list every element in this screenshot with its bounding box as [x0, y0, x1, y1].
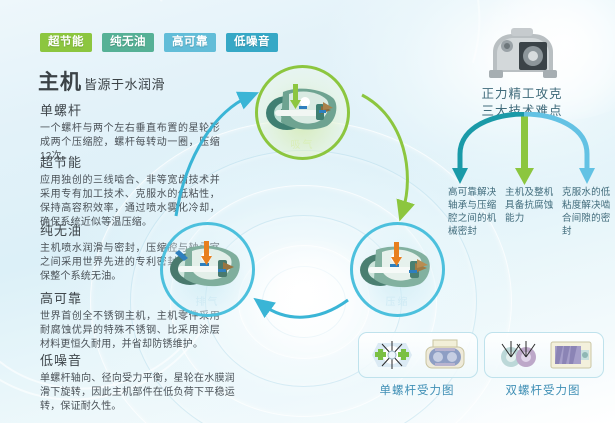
ripple-ring [262, 266, 346, 338]
compressor-photo [487, 26, 559, 82]
cycle-node-suction[interactable]: 吸气 [255, 65, 350, 160]
tag-oil-free[interactable]: 纯无油 [102, 33, 154, 52]
single-screw-cutaway-icon [423, 339, 467, 371]
node-caption: 压缩 [386, 293, 410, 317]
branch-text-row: 高可靠解决轴承与压缩腔之间的机械密封 主机及整机具备抗腐蚀能力 克服水的低粘度解… [448, 186, 614, 238]
card-double-screw-force[interactable] [484, 332, 604, 378]
node-caption: 吸气 [291, 136, 315, 160]
branch-text-corrosion-resistance: 主机及整机具备抗腐蚀能力 [505, 186, 555, 238]
cycle-node-exhaust[interactable]: 排气 [160, 222, 255, 317]
branch-text-mechanical-seal: 高可靠解决轴承与压缩腔之间的机械密封 [448, 186, 498, 238]
card-label-double-screw: 双螺杆受力图 [484, 382, 602, 398]
double-screw-cutaway-icon [549, 339, 593, 371]
arrow-compress-to-exhaust [263, 300, 348, 317]
compressor-illustration-icon [261, 80, 345, 134]
feature-title: 超节能 [40, 152, 220, 171]
poster-canvas: 超节能 纯无油 高可靠 低噪音 主机皆源于水润滑 单螺杆 一个螺杆与两个左右垂直… [0, 0, 615, 423]
single-screw-force-icon [370, 339, 414, 371]
tag-high-reliability[interactable]: 高可靠 [164, 33, 216, 52]
arrow-suction-to-compress [362, 95, 407, 210]
feature-block-low-noise: 低噪音 单螺杆轴向、径向受力平衡，星轮在水膜润滑下旋转，因此主机部件在低负荷下平… [40, 350, 235, 414]
double-screw-force-icon [496, 339, 540, 371]
node-caption: 排气 [196, 293, 220, 317]
feature-body: 单螺杆轴向、径向受力平衡，星轮在水膜润滑下旋转，因此主机部件在低负荷下平稳运转，… [40, 372, 235, 414]
feature-title: 低噪音 [40, 350, 235, 369]
compressor-illustration-icon [356, 237, 440, 291]
cycle-node-compress[interactable]: 压缩 [350, 222, 445, 317]
feature-tag-row: 超节能 纯无油 高可靠 低噪音 [40, 33, 278, 52]
feature-block-energy-saving: 超节能 应用独创的三线啮合、非等宽齿技术并采用专有加工技术、克服水的低粘性，保持… [40, 152, 220, 230]
page-title-primary: 主机 [38, 71, 82, 94]
card-single-screw-force[interactable] [358, 332, 478, 378]
right-panel-title-line1: 正力精工攻克 [458, 86, 586, 103]
feature-body: 世界首创全不锈钢主机，主机零件采用耐腐蚀优异的特殊不锈钢、比采用涂层材料更恒久耐… [40, 310, 220, 352]
page-title-secondary: 皆源于水润滑 [84, 77, 165, 92]
branch-text-meshing-gap-seal: 克服水的低粘度解决啮合间隙的密封 [562, 186, 614, 238]
card-label-single-screw: 单螺杆受力图 [358, 382, 476, 398]
compressor-illustration-icon [166, 237, 250, 291]
water-glow [268, 262, 338, 320]
page-title: 主机皆源于水润滑 [38, 66, 165, 96]
feature-title: 单螺杆 [40, 100, 220, 119]
tag-super-energy-saving[interactable]: 超节能 [40, 33, 92, 52]
tag-low-noise[interactable]: 低噪音 [226, 33, 278, 52]
